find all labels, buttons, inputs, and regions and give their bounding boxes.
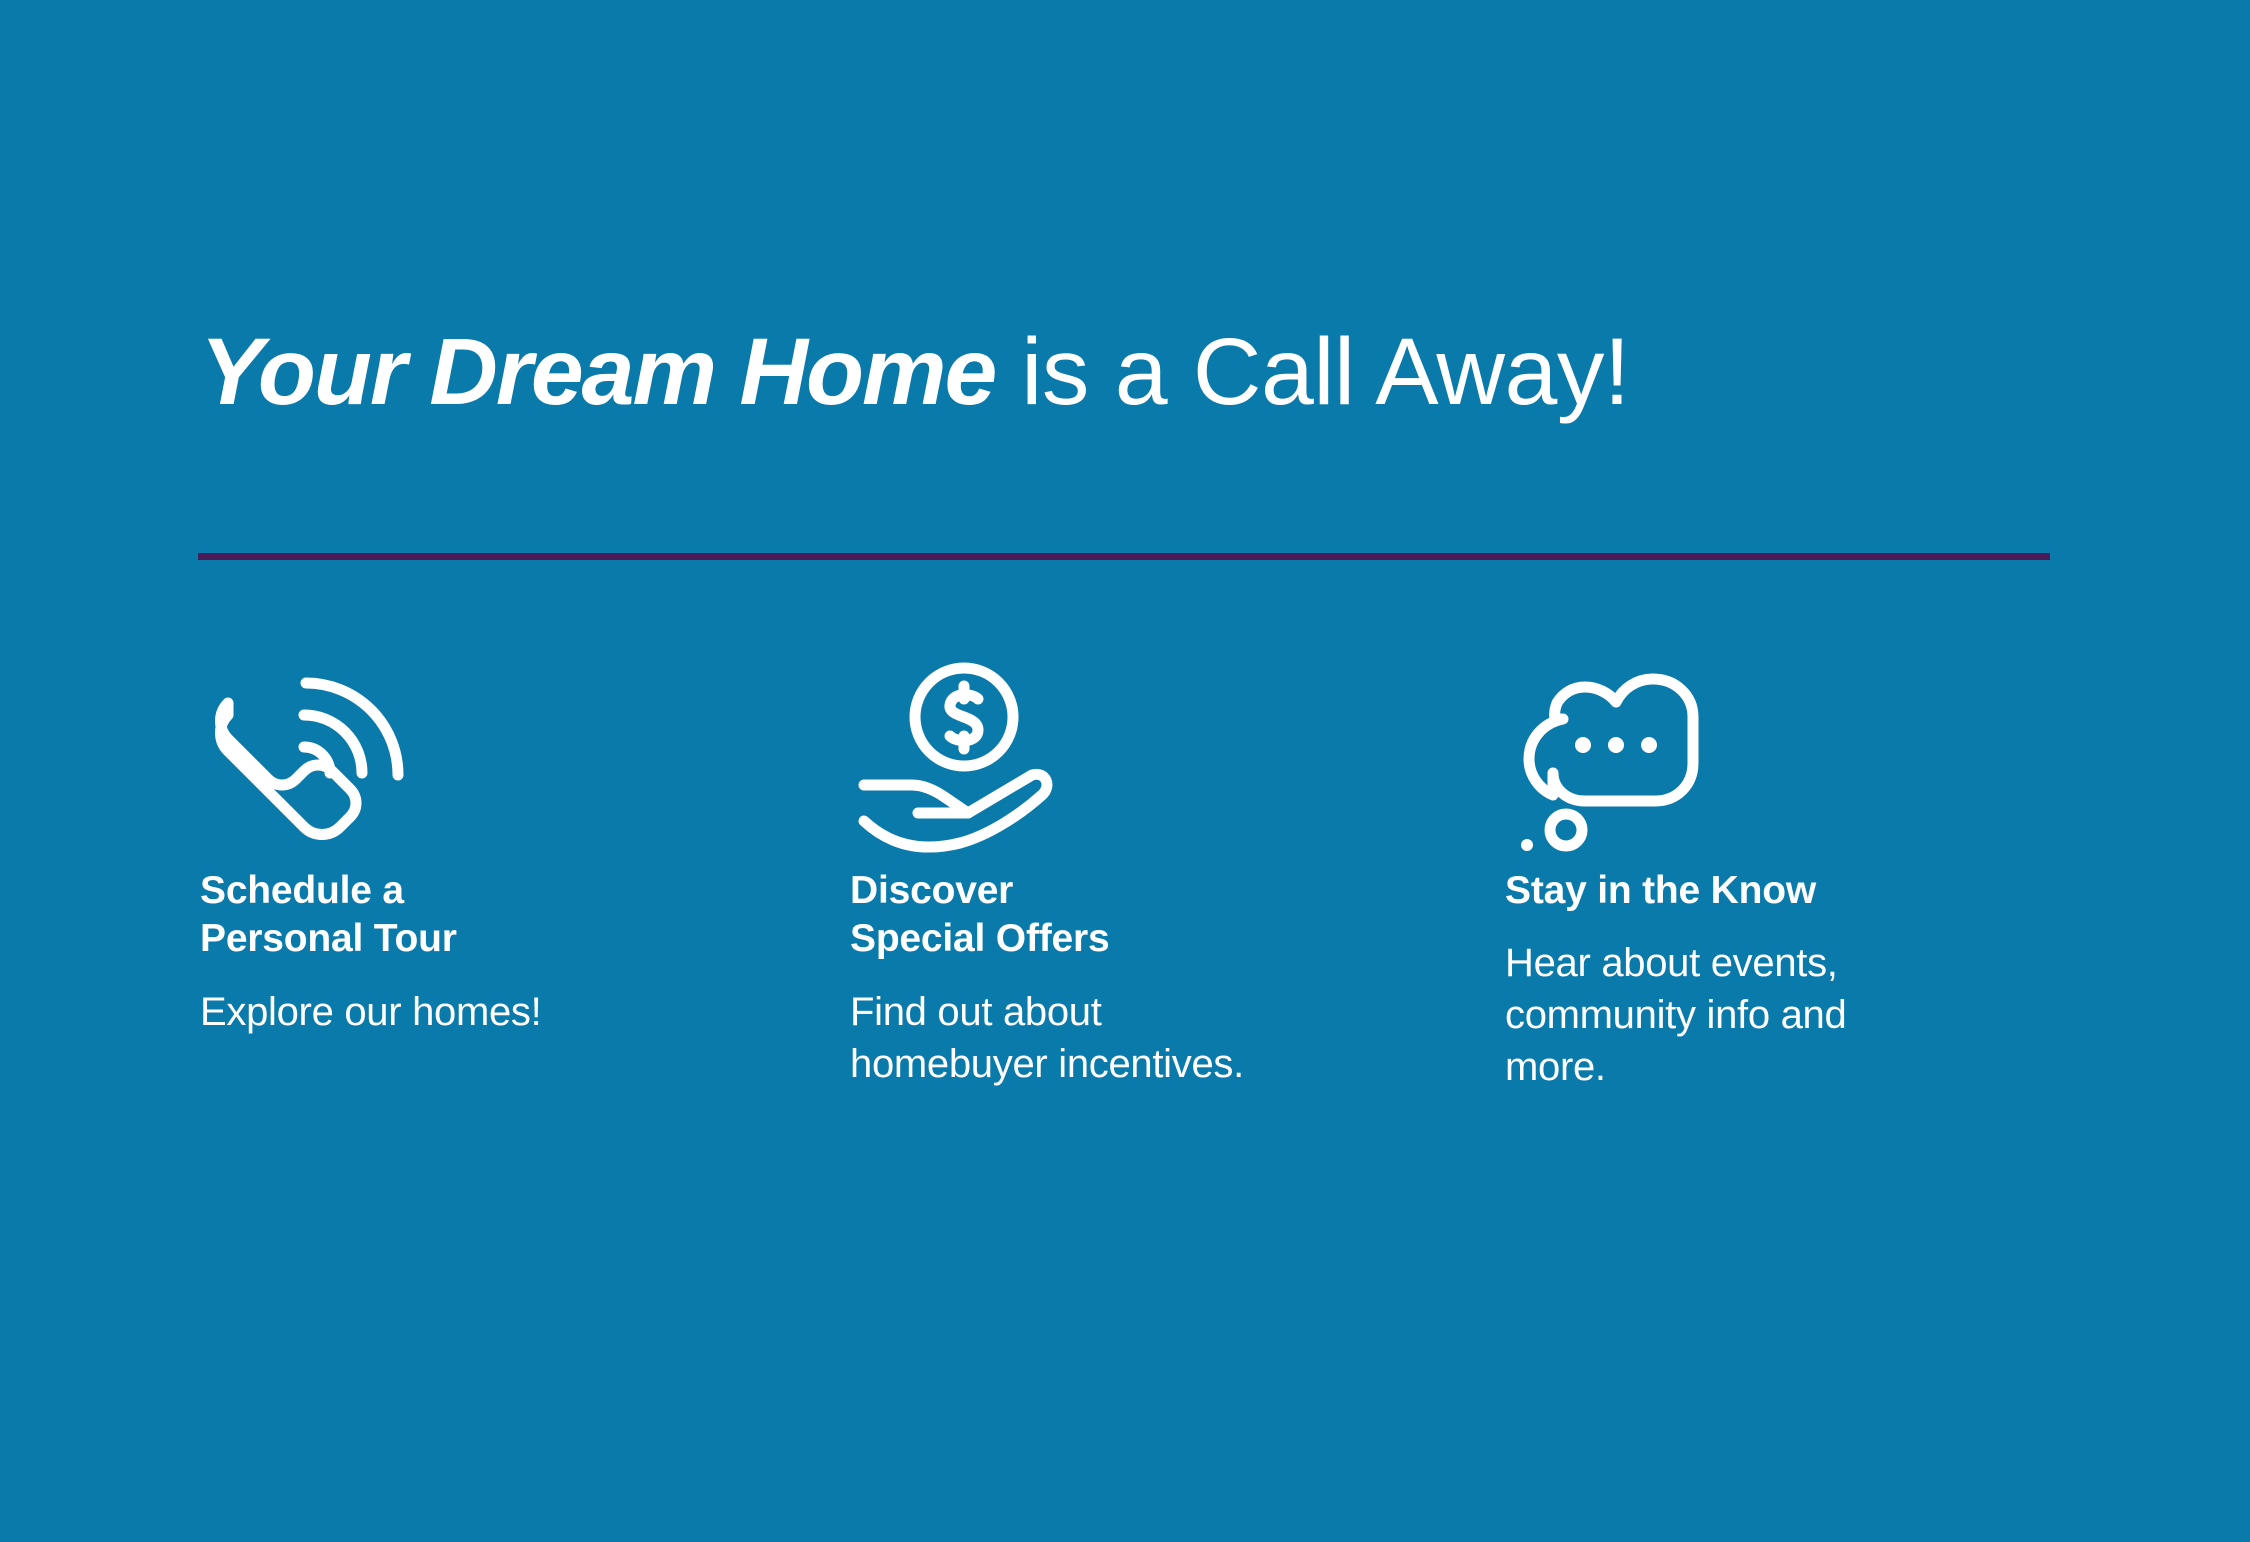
feature-column-special-offers: Discover Special Offers Find out about h…	[850, 655, 1450, 1090]
hand-holding-money-icon	[850, 655, 1450, 865]
feature-columns: Schedule a Personal Tour Explore our hom…	[0, 655, 2250, 1275]
feature-title: Stay in the Know	[1505, 867, 2105, 915]
headline-emphasis: Your Dream Home	[200, 319, 995, 425]
phone-ringing-icon	[200, 655, 800, 865]
page-title: Your Dream Home is a Call Away!	[200, 322, 2100, 423]
feature-body: Explore our homes!	[200, 986, 800, 1038]
feature-body: Hear about events, community info and mo…	[1505, 937, 2105, 1093]
feature-column-schedule-tour: Schedule a Personal Tour Explore our hom…	[200, 655, 800, 1038]
feature-column-stay-in-know: Stay in the Know Hear about events, comm…	[1505, 655, 2105, 1093]
divider	[198, 553, 2050, 560]
headline-rest: is a Call Away!	[995, 319, 1629, 425]
promo-banner: Your Dream Home is a Call Away! Schedule…	[0, 0, 2250, 1542]
feature-body: Find out about homebuyer incentives.	[850, 986, 1450, 1090]
feature-title: Discover Special Offers	[850, 867, 1450, 964]
thought-bubble-icon	[1505, 655, 2105, 865]
feature-title: Schedule a Personal Tour	[200, 867, 800, 964]
